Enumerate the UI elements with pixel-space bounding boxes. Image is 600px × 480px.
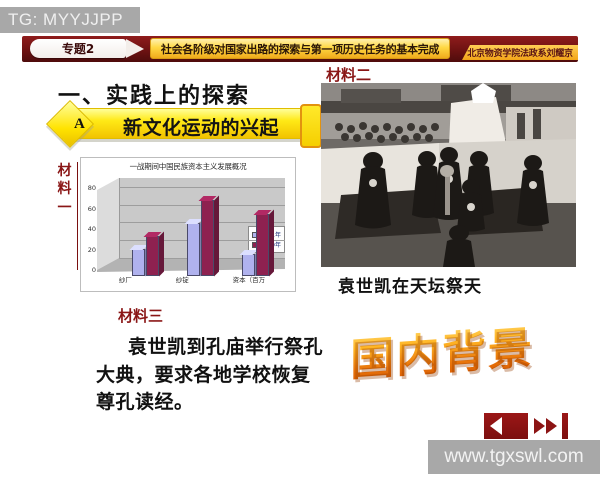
chart-y-tick-label: 20 [88,246,96,254]
chart-bar-face [201,200,214,276]
historical-photo [321,83,576,267]
diamond-shape [46,100,94,148]
material-one-char-2: 料 [58,180,72,198]
chart-bar-side [269,209,274,276]
badge-tail-shape [126,39,144,58]
header-topic-badge: 专题2 [30,39,126,58]
photo-caption: 袁世凯在天坛祭天 [338,272,482,297]
chart-bar-face [256,214,269,276]
subsection-label: 新文化运动的兴起 [123,113,279,140]
bottom-watermark-band: www.tgxswl.com [428,440,600,474]
next-arrow-icon[interactable] [534,418,545,434]
chart-bar-face [242,254,255,276]
chart-y-tick-label: 0 [92,266,96,274]
chart-bar-face [132,249,145,276]
chart-bar-face [146,236,159,276]
chart-bar [256,214,269,276]
chart-y-tick-label: 60 [88,205,96,213]
material-one-char-3: 一 [58,199,72,217]
chart-bar [187,223,200,276]
chart-bar [201,200,214,276]
material-one-char-1: 材 [58,162,72,180]
material-three-label: 材料三 [118,305,163,326]
chart-y-axis: 020406080 [97,178,119,270]
chart-bar-side [214,196,219,277]
header-title-text: 社会各阶级对国家出路的探索与第一项历史任务的基本完成 [161,41,439,57]
photo-illustration [321,83,576,267]
chart-bar-side [159,232,164,277]
wordart-title: 国内背景 [350,312,534,389]
chart-y-tick-label: 40 [88,225,96,233]
material-one-label: 材 料 一 [52,162,78,270]
next-button[interactable] [528,413,562,439]
chart-gridline [119,187,285,188]
slide-navigation-bar[interactable] [484,413,568,439]
subsection-marker: A [74,116,85,133]
header-topic-label: 专题2 [62,40,94,57]
chart-x-tick-label: 纱厂 [119,274,132,284]
top-watermark-text: TG: MYYJJPP [8,10,123,30]
chart-bar [242,254,255,276]
chart-bar [146,236,159,276]
top-watermark-band: TG: MYYJJPP [0,7,140,33]
bar-chart: 一战期间中国民族资本主义发展概况 020406080 纱厂纱锭资本（百万 191… [80,157,296,292]
slide-header: 专题2 社会各阶级对国家出路的探索与第一项历史任务的基本完成 北京物资学院法政系… [22,36,578,62]
next-arrow-icon-2[interactable] [546,418,557,434]
chart-plot-area: 020406080 纱厂纱锭资本（百万 1911年1919年 [97,178,287,288]
header-author-plate: 北京物资学院法政系刘耀京 [462,45,578,60]
header-author-text: 北京物资学院法政系刘耀京 [467,46,573,59]
section-heading: 一、实践上的探索 [58,78,250,110]
chart-bar [132,249,145,276]
slide-canvas: TG: MYYJJPP 专题2 社会各阶级对国家出路的探索与第一项历史任务的基本… [0,0,600,480]
header-title-plate: 社会各阶级对国家出路的探索与第一项历史任务的基本完成 [150,38,450,59]
chart-bar-face [187,223,200,276]
chart-title: 一战期间中国民族资本主义发展概况 [81,161,295,172]
bottom-watermark-text: www.tgxswl.com [444,446,583,468]
material-three-body: 袁世凯到孔庙举行祭孔大典，要求各地学校恢复尊孔读经。 [96,334,326,417]
chart-y-tick-label: 80 [88,184,96,192]
previous-arrow-icon[interactable] [490,417,502,435]
subsection-banner: A 新文化运动的兴起 [62,108,309,139]
yellow-tab-shape [300,104,322,148]
material-two-label: 材料二 [326,64,371,85]
